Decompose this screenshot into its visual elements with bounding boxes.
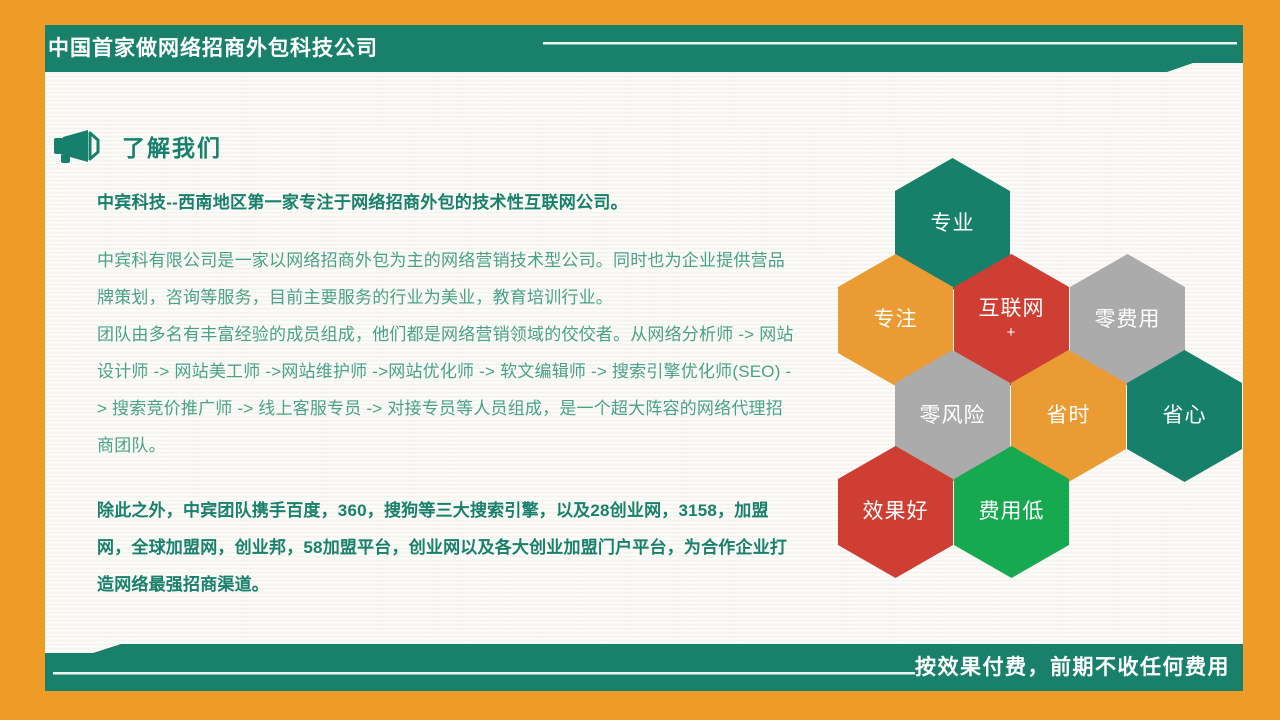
- header-title: 中国首家做网络招商外包科技公司: [48, 26, 378, 72]
- hex-label: 省时: [1047, 404, 1091, 428]
- about-lead-line: 中宾科技--西南地区第一家专注于网络招商外包的技术性互联网公司。: [97, 188, 797, 218]
- about-closing-paragraph: 除此之外，中宾团队携手百度，360，搜狗等三大搜索引擎，以及28创业网，3158…: [97, 492, 797, 603]
- footer-tagline: 按效果付费，前期不收任何费用: [915, 645, 1230, 691]
- about-paragraph-1: 中宾科有限公司是一家以网络招商外包为主的网络营销技术型公司。同时也为企业提供营品…: [97, 242, 797, 316]
- megaphone-icon: [52, 128, 100, 164]
- hex-label: 零费用: [1095, 308, 1161, 332]
- hex-label: 费用低: [979, 500, 1045, 524]
- section-heading: 了解我们: [52, 128, 222, 164]
- hex-label: 互联网: [979, 297, 1045, 321]
- hexagon-cluster: 专业专注互联网+零费用零风险省时省心效果好费用低: [830, 150, 1250, 540]
- hex-label: 效果好: [863, 500, 929, 524]
- hex-label: 零风险: [920, 404, 986, 428]
- hex-sublabel: +: [1007, 322, 1017, 343]
- header-accent-line: [543, 42, 1237, 45]
- section-title: 了解我们: [122, 129, 222, 163]
- hex-label: 专业: [931, 212, 975, 236]
- slide-canvas: 中国首家做网络招商外包科技公司 了解我们 中宾科技--西南地区第一家专注于网络招…: [0, 0, 1280, 720]
- footer-accent-line: [53, 672, 915, 675]
- about-paragraph-2: 团队由多名有丰富经验的成员组成，他们都是网络营销领域的佼佼者。从网络分析师 ->…: [97, 316, 797, 464]
- hex-label: 省心: [1163, 404, 1207, 428]
- hex-label: 专注: [874, 308, 918, 332]
- about-text-column: 中宾科技--西南地区第一家专注于网络招商外包的技术性互联网公司。 中宾科有限公司…: [97, 188, 797, 603]
